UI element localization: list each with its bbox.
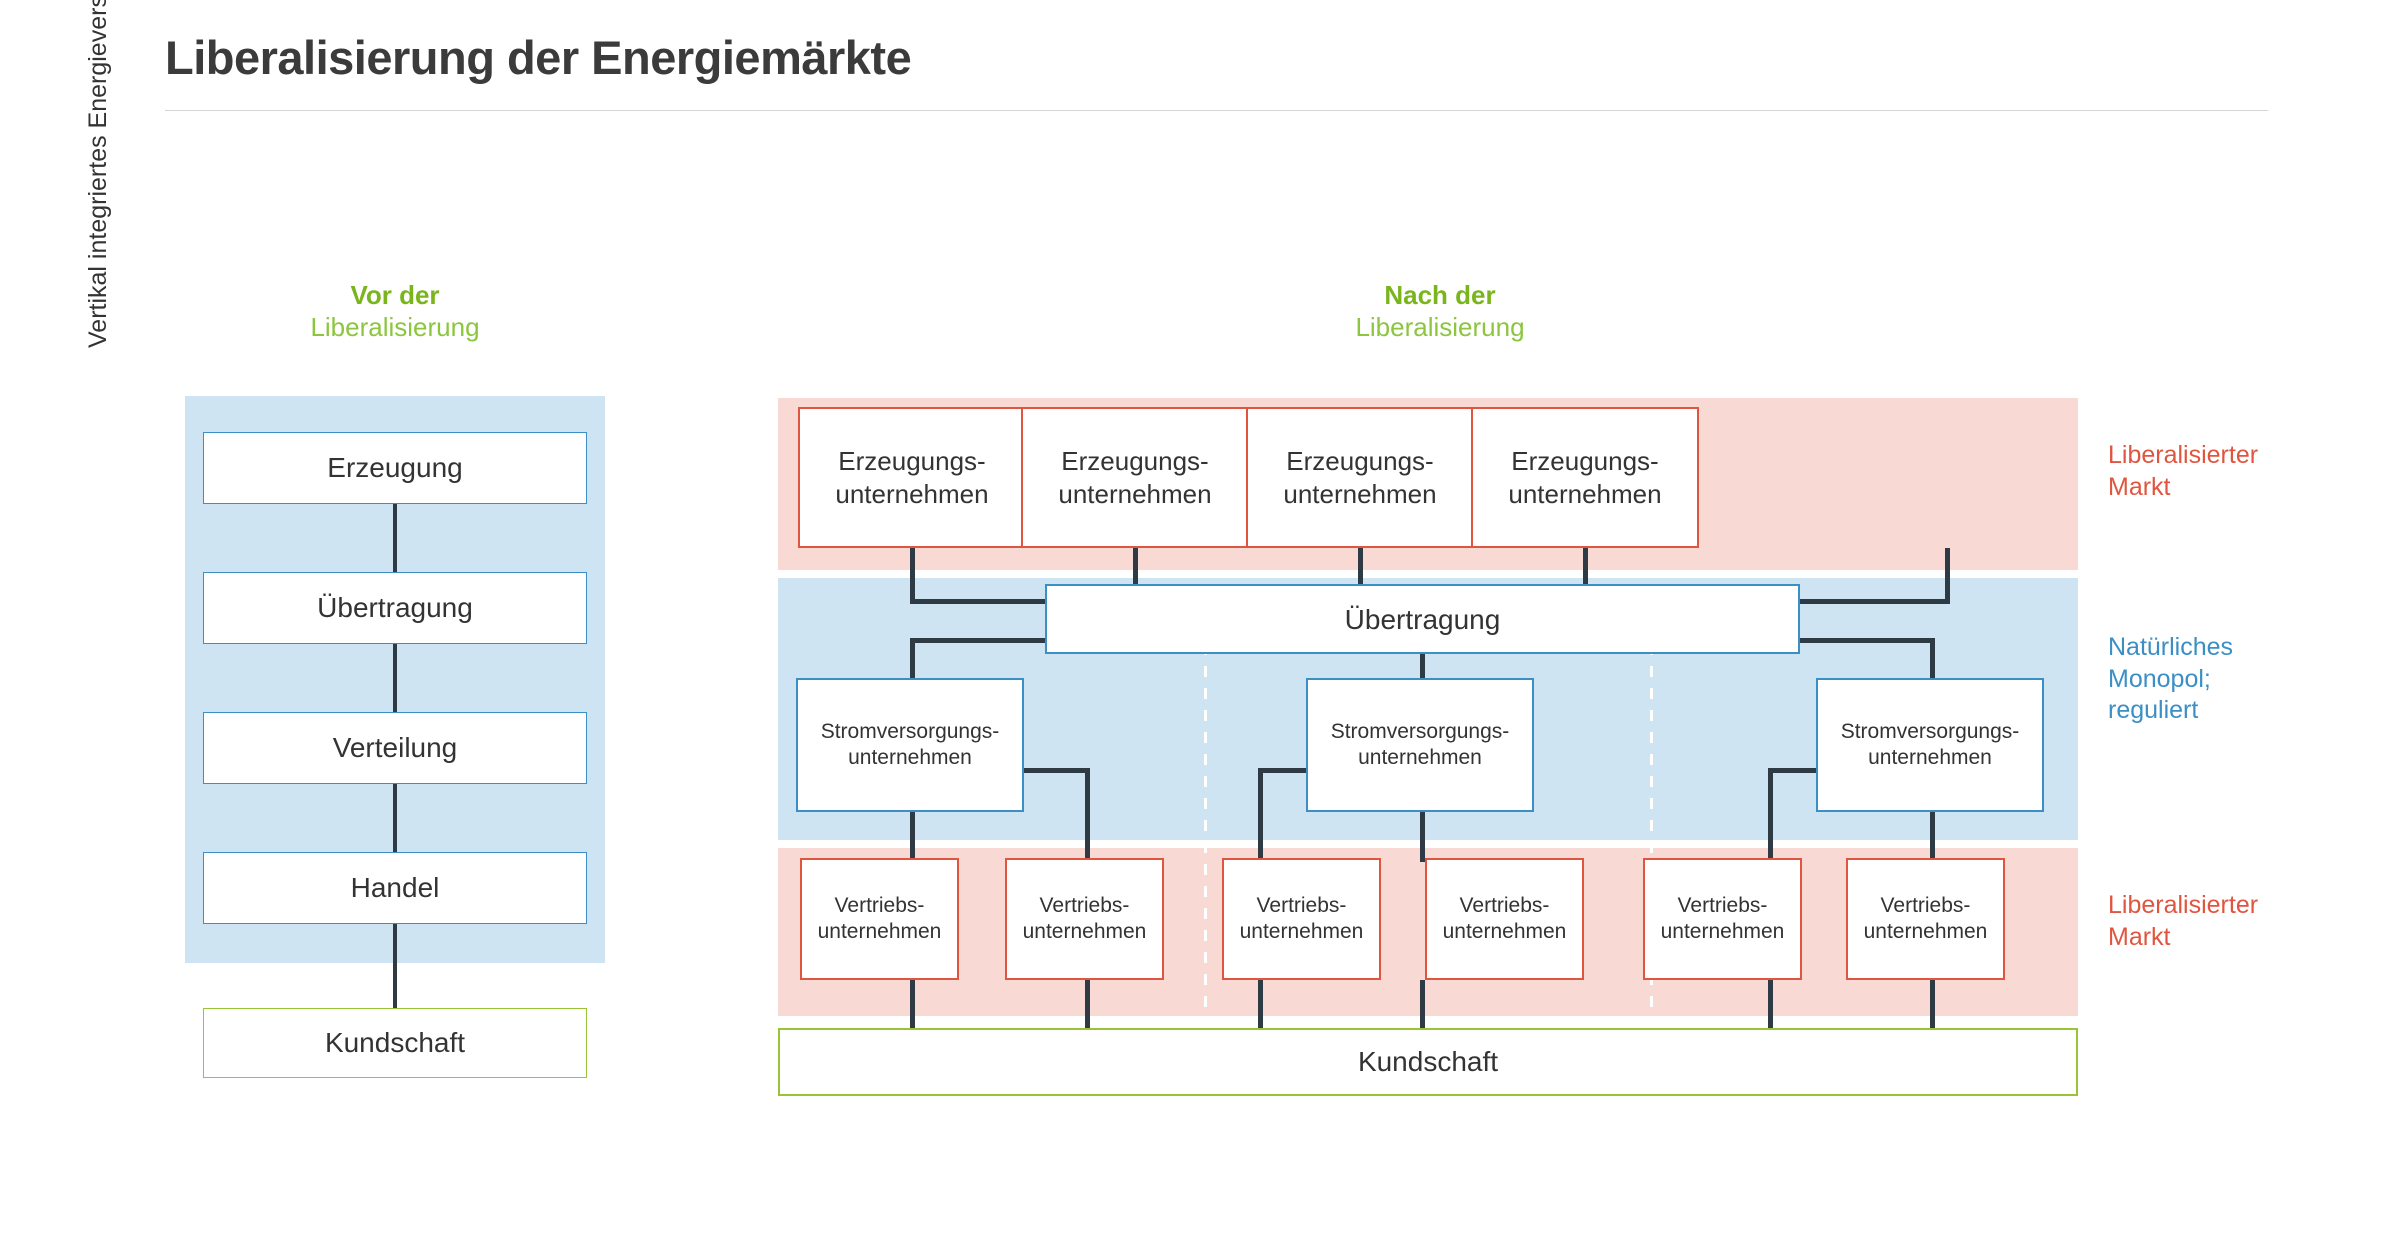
side-label-liberalised-market-top: LiberalisierterMarkt: [2108, 440, 2368, 503]
connector-trans-supply3-v: [1930, 638, 1935, 683]
connector-supply2-retail3-v: [1258, 768, 1263, 862]
retail-company-5[interactable]: Vertriebs-unternehmen: [1643, 858, 1802, 980]
column-heading-after-line2: Liberalisierung: [1150, 312, 1730, 344]
connector-gen1-down: [910, 548, 915, 604]
connector-trans-supply1-v: [910, 638, 915, 683]
supply-company-3[interactable]: Stromversorgungs-unternehmen: [1816, 678, 2044, 812]
retail-company-6[interactable]: Vertriebs-unternehmen: [1846, 858, 2005, 980]
connector-retail4-customer: [1420, 980, 1425, 1030]
retail-company-4[interactable]: Vertriebs-unternehmen: [1425, 858, 1584, 980]
before-stage-handel[interactable]: Handel: [203, 852, 587, 924]
supply-company-2[interactable]: Stromversorgungs-unternehmen: [1306, 678, 1534, 812]
generation-company-3[interactable]: Erzeugungs-unternehmen: [1246, 407, 1474, 548]
side-label-liberalised-market-bottom: LiberalisierterMarkt: [2108, 890, 2368, 953]
connector-gen1-right: [910, 599, 1050, 604]
transmission-box[interactable]: Übertragung: [1045, 584, 1800, 654]
before-customer-box[interactable]: Kundschaft: [203, 1008, 587, 1078]
connector-gen2-down: [1133, 548, 1138, 588]
retail-company-3[interactable]: Vertriebs-unternehmen: [1222, 858, 1381, 980]
connector-retail1-customer: [910, 980, 915, 1030]
connector-retail3-customer: [1258, 980, 1263, 1030]
connector-gen4-to-transmission: [1795, 599, 1950, 604]
column-heading-after: Nach der Liberalisierung: [1150, 280, 1730, 343]
connector-trans-supply3-h: [1795, 638, 1935, 643]
connector-supply2-retail4: [1420, 812, 1425, 862]
generation-company-4[interactable]: Erzeugungs-unternehmen: [1471, 407, 1699, 548]
before-stage-erzeugung[interactable]: Erzeugung: [203, 432, 587, 504]
column-heading-after-line1: Nach der: [1150, 280, 1730, 312]
retail-company-2[interactable]: Vertriebs-unternehmen: [1005, 858, 1164, 980]
before-connector-3: [393, 923, 397, 1009]
connector-gen4-vertical-right: [1945, 548, 1950, 604]
column-heading-before-line2: Liberalisierung: [190, 312, 600, 344]
connector-supply3-retail6: [1930, 812, 1935, 862]
column-heading-before-line1: Vor der: [190, 280, 600, 312]
before-connector-2: [393, 783, 397, 853]
connector-retail5-customer: [1768, 980, 1773, 1030]
after-customer-box[interactable]: Kundschaft: [778, 1028, 2078, 1096]
supply-company-1[interactable]: Stromversorgungs-unternehmen: [796, 678, 1024, 812]
generation-company-2[interactable]: Erzeugungs-unternehmen: [1021, 407, 1249, 548]
title-divider: [165, 110, 2268, 111]
page-title: Liberalisierung der Energiemärkte: [165, 30, 911, 85]
before-connector-0: [393, 503, 397, 573]
connector-supply1-retail2-v: [1085, 768, 1090, 862]
connector-supply1-retail2-h: [1023, 768, 1090, 773]
retail-company-1[interactable]: Vertriebs-unternehmen: [800, 858, 959, 980]
before-stage-verteilung[interactable]: Verteilung: [203, 712, 587, 784]
connector-retail2-customer: [1085, 980, 1090, 1030]
column-heading-before: Vor der Liberalisierung: [190, 280, 600, 343]
connector-trans-supply1-h: [910, 638, 1050, 643]
before-connector-1: [393, 643, 397, 713]
generation-company-1[interactable]: Erzeugungs-unternehmen: [798, 407, 1026, 548]
vertical-dashed-separator-1: [1204, 600, 1207, 1010]
connector-supply1-retail1: [910, 812, 915, 862]
connector-retail6-customer: [1930, 980, 1935, 1030]
connector-gen3-down: [1358, 548, 1363, 588]
vertical-axis-label: Vertikal integriertes Energieversorgungs…: [83, 0, 113, 348]
before-stage-uebertragung[interactable]: Übertragung: [203, 572, 587, 644]
connector-supply3-retail5-v: [1768, 768, 1773, 862]
side-label-natural-monopoly: NatürlichesMonopol;reguliert: [2108, 632, 2368, 727]
